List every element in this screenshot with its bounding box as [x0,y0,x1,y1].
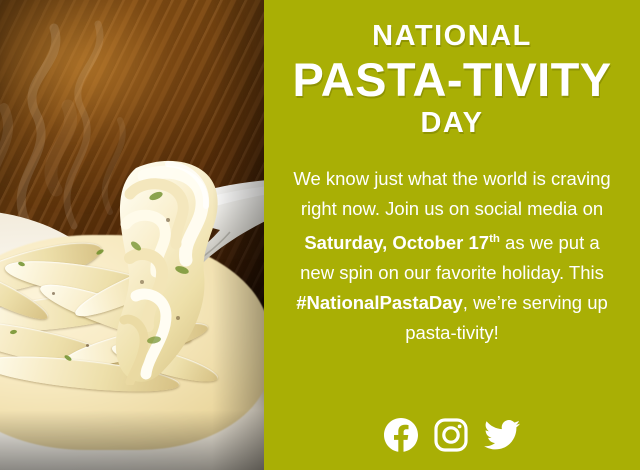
facebook-icon[interactable] [384,418,418,452]
twitter-link[interactable] [484,419,520,451]
pasta-photo [0,0,264,470]
headline-line-2: PASTA-TIVITY [293,56,612,103]
facebook-link[interactable] [384,418,418,452]
pepper-speck [86,344,89,347]
headline-line-3: DAY [420,109,483,138]
instagram-link[interactable] [434,418,468,452]
twitter-icon[interactable] [484,419,520,451]
body-copy: We know just what the world is craving r… [287,164,617,348]
promo-banner: NATIONAL PASTA-TIVITY DAY We know just w… [0,0,640,470]
instagram-icon[interactable] [434,418,468,452]
green-content-panel: NATIONAL PASTA-TIVITY DAY We know just w… [264,0,640,470]
pepper-speck [52,292,55,295]
social-links [264,418,640,452]
lifted-pasta-forkful [96,150,234,385]
headline-line-1: NATIONAL [372,22,532,51]
